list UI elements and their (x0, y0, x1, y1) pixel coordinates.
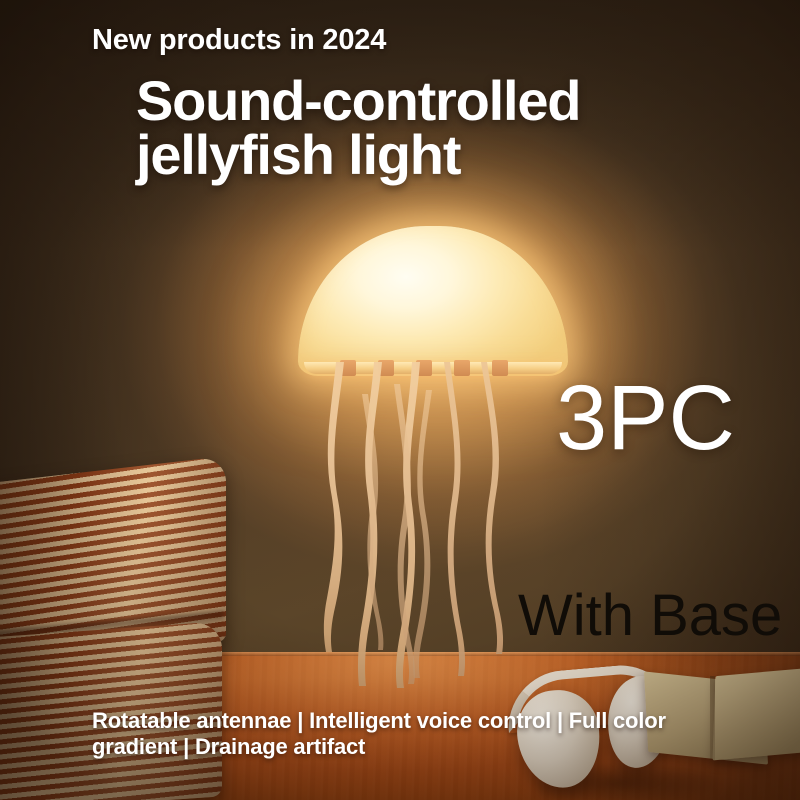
quantity-badge: 3PC (556, 366, 735, 471)
kicker-text: New products in 2024 (92, 24, 386, 57)
product-banner-scene: New products in 2024 Sound-controlled je… (0, 0, 800, 800)
feature-list-text: Rotatable antennae | Intelligent voice c… (92, 708, 752, 759)
accessory-note: With Base (518, 582, 782, 649)
page-title: Sound-controlled jellyfish light (136, 74, 756, 182)
jellyfish-dome (298, 226, 568, 376)
title-line-2: jellyfish light (136, 128, 756, 182)
